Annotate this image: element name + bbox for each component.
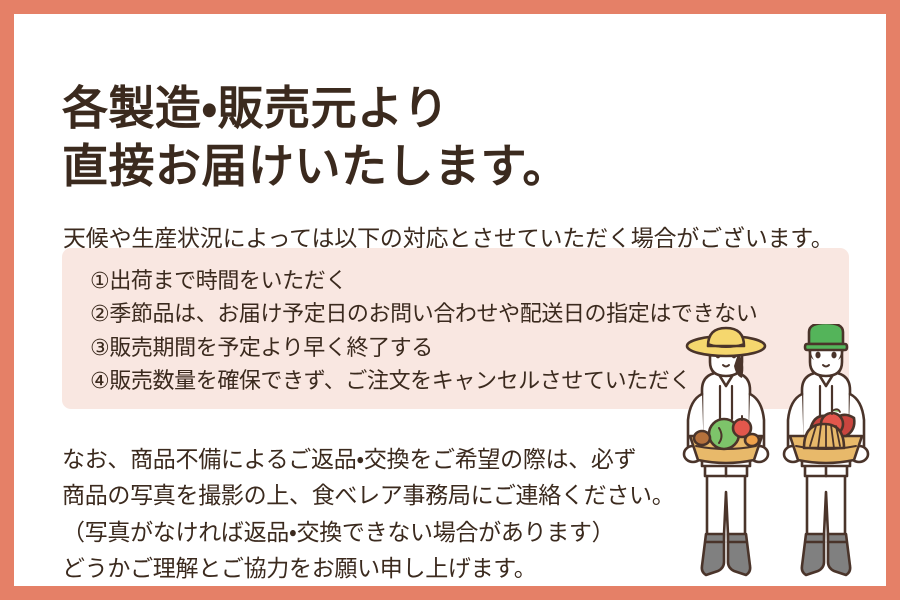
- list-item: ①出荷まで時間をいただく: [90, 264, 757, 297]
- closing-line-3: （写真がなければ返品・交換できない場合があります）: [62, 514, 674, 550]
- list-item: ④販売数量を確保できず、ご注文をキャンセルさせていただく: [90, 364, 757, 397]
- banner-canvas: 各製造・販売元より 直接お届けいたします。 天候や生産状況によっては以下の対応と…: [14, 14, 886, 586]
- page-title: 各製造・販売元より 直接お届けいたします。: [62, 79, 782, 196]
- page-title-line-2: 直接お届けいたします。: [62, 137, 782, 195]
- list-item: ③販売期間を予定より早く終了する: [90, 331, 757, 364]
- closing-paragraph: なお、商品不備によるご返品・交換をご希望の際は、必ず 商品の写真を撮影の上、食べ…: [62, 441, 674, 586]
- banner-frame: 各製造・販売元より 直接お届けいたします。 天候や生産状況によっては以下の対応と…: [0, 0, 900, 600]
- closing-line-2: 商品の写真を撮影の上、食べレア事務局にご連絡ください。: [62, 477, 674, 513]
- note-list: ①出荷まで時間をいただく ②季節品は、お届け予定日のお問い合わせや配送日の指定は…: [90, 264, 757, 398]
- page-title-line-1: 各製造・販売元より: [62, 79, 782, 137]
- closing-line-1: なお、商品不備によるご返品・交換をご希望の際は、必ず: [62, 441, 674, 477]
- note-box: ①出荷まで時間をいただく ②季節品は、お届け予定日のお問い合わせや配送日の指定は…: [62, 248, 849, 409]
- closing-line-4: どうかご理解とご協力をお願い申し上げます。: [62, 550, 674, 586]
- list-item: ②季節品は、お届け予定日のお問い合わせや配送日の指定はできない: [90, 297, 757, 330]
